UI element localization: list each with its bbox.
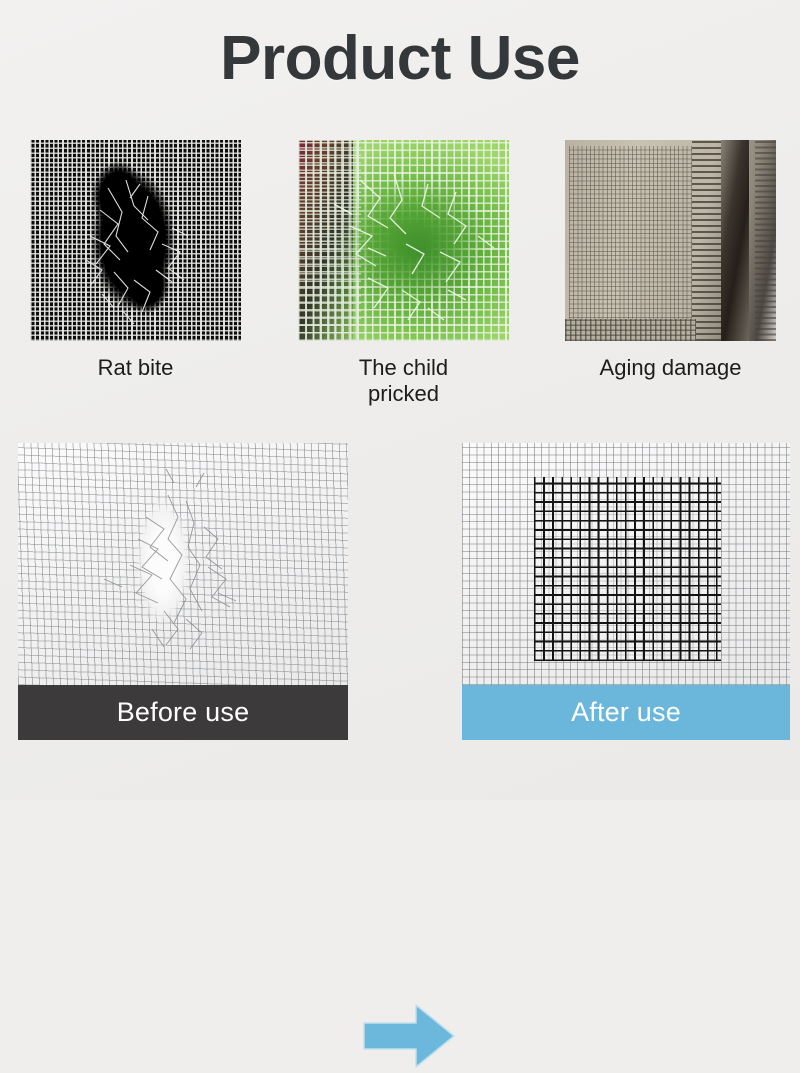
beige-mesh-bottom-strip xyxy=(565,319,696,341)
beige-mesh-texture xyxy=(569,146,691,331)
torn-dark-mesh-photo xyxy=(30,140,241,341)
damage-example-caption: Aging damage xyxy=(565,355,776,381)
repair-patch xyxy=(534,477,721,661)
damage-example-child-pricked: The child pricked xyxy=(298,140,509,407)
green-mesh-side-texture xyxy=(298,140,361,341)
after-use-panel: After use xyxy=(462,443,790,740)
damage-example-rat-bite: Rat bite xyxy=(30,140,241,381)
before-use-panel: Before use xyxy=(18,443,348,740)
damage-example-aging-damage: Aging damage xyxy=(565,140,776,381)
damage-examples-row: Rat bite xyxy=(0,140,800,400)
aged-beige-mesh-photo xyxy=(565,140,776,341)
white-mesh-with-hole-photo xyxy=(18,443,348,685)
white-mesh-with-repair-patch-photo xyxy=(462,443,790,685)
before-use-label: Before use xyxy=(18,685,348,740)
mesh-hole xyxy=(130,482,196,642)
arrow-right-icon xyxy=(360,999,458,1073)
torn-green-mesh-photo xyxy=(298,140,509,341)
after-use-label: After use xyxy=(462,685,790,740)
damage-example-caption: Rat bite xyxy=(30,355,241,381)
dark-mesh-texture xyxy=(30,140,241,341)
detached-screen-gap xyxy=(721,140,748,341)
product-use-infographic: Product Use xyxy=(0,0,800,800)
damage-example-caption: The child pricked xyxy=(298,355,509,407)
before-after-comparison: Before use After use xyxy=(0,443,800,743)
page-title: Product Use xyxy=(0,26,800,91)
window-frame-edge xyxy=(755,140,776,341)
